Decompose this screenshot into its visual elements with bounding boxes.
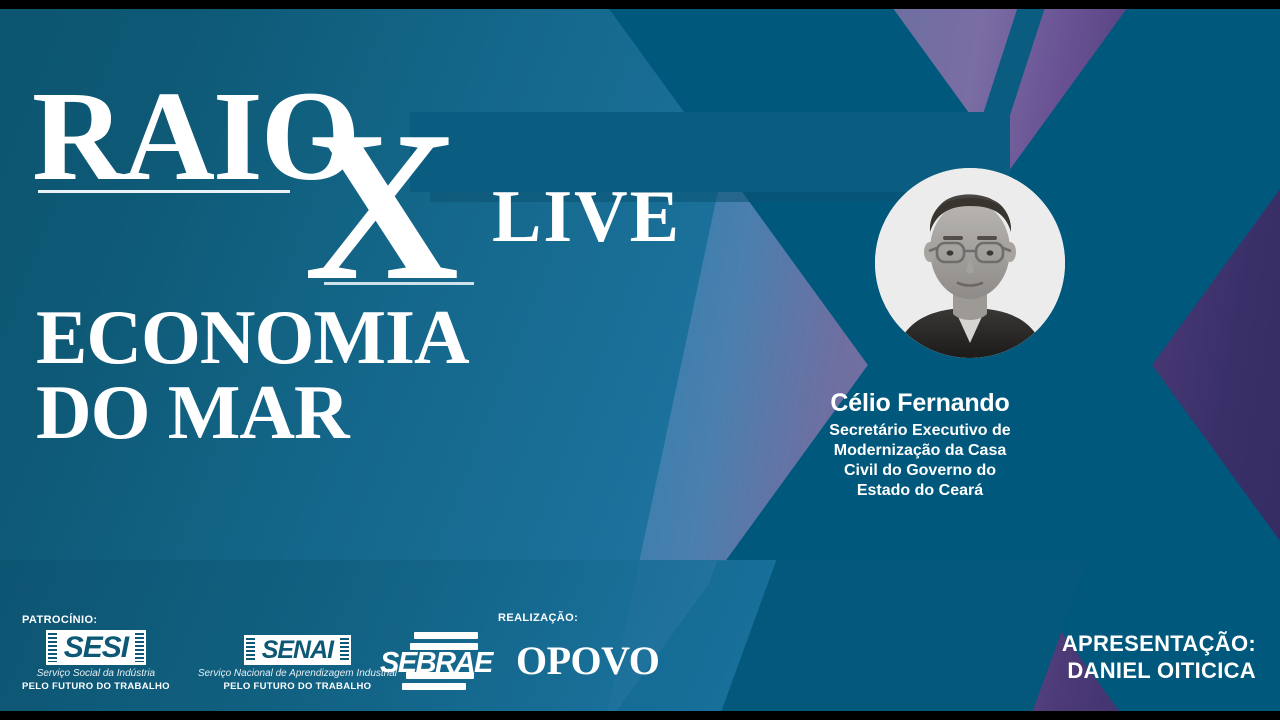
title-line-2: DO MAR: [36, 375, 469, 450]
presentation-label: APRESENTAÇÃO:: [1062, 631, 1256, 657]
senai-tagline: PELO FUTURO DO TRABALHO: [198, 681, 397, 692]
portrait-illustration: [875, 168, 1065, 358]
sponsor-label: PATROCÍNIO:: [22, 614, 170, 626]
sesi-logo-mark: SESI: [46, 630, 146, 666]
speaker-role-line-2: Modernização da Casa: [770, 441, 1070, 461]
logo-live-text: LIVE: [492, 180, 681, 254]
sebrae-logo: SEBRAE: [380, 632, 492, 690]
realization-block: REALIZAÇÃO: SEBRAE OPOVO: [380, 632, 659, 690]
senai-logo-mark: SENAI: [244, 635, 351, 665]
logo-x-letter: X: [304, 98, 459, 313]
page-title: ECONOMIA DO MAR: [36, 300, 469, 451]
letterbox-bottom: [0, 711, 1280, 720]
logo-underline-rule: [38, 190, 290, 193]
speaker-info: Célio Fernando Secretário Executivo de M…: [770, 390, 1070, 501]
sesi-wordmark: SESI: [50, 632, 142, 664]
logo-x-underline-rule: [324, 282, 474, 285]
presentation-host: DANIEL OITICICA: [1062, 658, 1256, 684]
sesi-stripes-right: [135, 633, 144, 663]
opovo-logo: OPOVO: [516, 641, 659, 681]
sesi-subtitle: Serviço Social da Indústria: [22, 668, 170, 679]
sesi-tagline: PELO FUTURO DO TRABALHO: [22, 681, 170, 692]
sebrae-wordmark: SEBRAE: [380, 649, 492, 678]
sebrae-bar-1: [414, 632, 478, 639]
title-line-1: ECONOMIA: [36, 300, 469, 375]
sponsor-senai: SENAI Serviço Nacional de Aprendizagem I…: [198, 635, 397, 692]
sebrae-bar-4: [402, 683, 466, 690]
speaker-name: Célio Fernando: [770, 390, 1070, 418]
sponsor-strip: PATROCÍNIO: SESI Serviço Social da Indús…: [22, 614, 397, 693]
sponsor-sesi: PATROCÍNIO: SESI Serviço Social da Indús…: [22, 614, 170, 693]
title-card: RAIO X LIVE ECONOMIA DO MAR: [0, 0, 1280, 720]
speaker-role-line-4: Estado do Ceará: [770, 481, 1070, 501]
senai-stripes-left: [246, 638, 255, 662]
presentation-credit: APRESENTAÇÃO: DANIEL OITICICA: [1062, 631, 1256, 684]
letterbox-top: [0, 0, 1280, 9]
speaker-avatar: [875, 168, 1065, 358]
speaker-role-line-3: Civil do Governo do: [770, 461, 1070, 481]
senai-subtitle: Serviço Nacional de Aprendizagem Industr…: [198, 668, 397, 679]
speaker-role-line-1: Secretário Executivo de: [770, 421, 1070, 441]
senai-wordmark: SENAI: [248, 637, 347, 663]
senai-stripes-right: [340, 638, 349, 662]
program-logo: RAIO X LIVE: [32, 72, 358, 200]
sesi-stripes-left: [48, 633, 57, 663]
realization-label: REALIZAÇÃO:: [498, 612, 578, 624]
